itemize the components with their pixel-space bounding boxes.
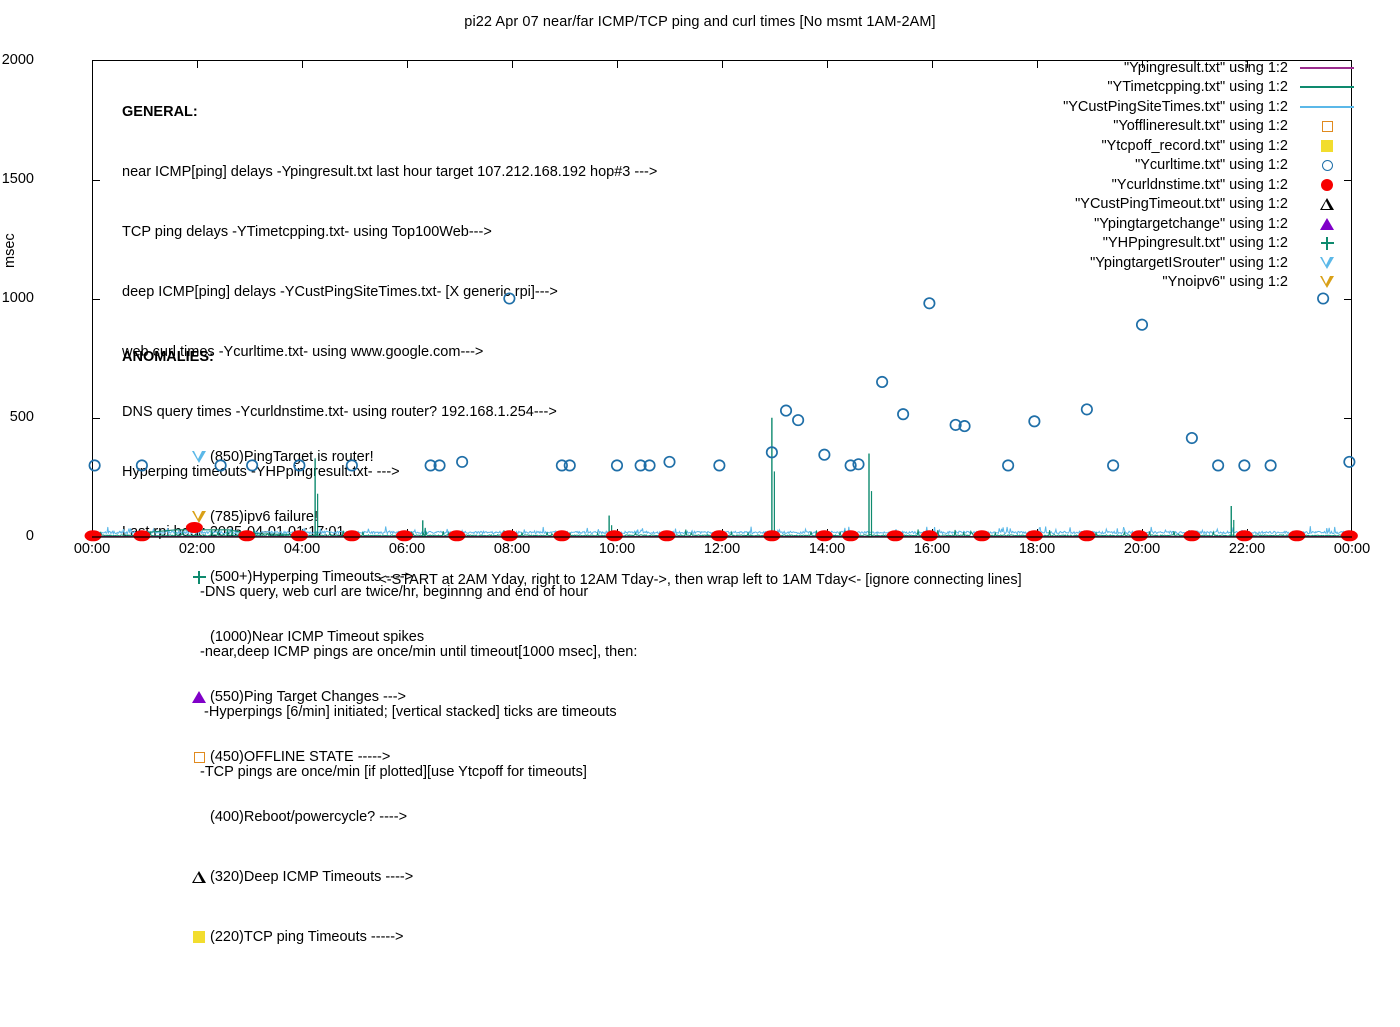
general-line-0: near ICMP[ping] delays -Ypingresult.txt … [122,162,657,182]
legend-entry: "Ypingresult.txt" using 1:2 [1010,58,1358,78]
anomaly-label: (400)Reboot/powercycle? ----> [210,807,407,827]
x-tick-0: 00:00 [74,541,110,557]
x-tick-8: 16:00 [914,541,950,557]
y-tickmark [92,418,100,419]
legend-label: "YTimetcpping.txt" using 1:2 [1107,79,1296,95]
anomaly-item: (220)TCP ping Timeouts -----> [188,927,424,947]
y-tickmark [1344,299,1352,300]
y-tickmark [92,180,100,181]
y-axis-label: msec [2,233,18,268]
y-tick-1000: 1000 [0,290,34,306]
chart-caption: <-START at 2AM Yday, right to 12AM Tday-… [0,572,1400,588]
legend-entry: "Ycurltime.txt" using 1:2 [1010,156,1358,176]
legend-label: "Yofflineresult.txt" using 1:2 [1113,118,1296,134]
x-tick-10: 20:00 [1124,541,1160,557]
legend-label: "Ypingtargetchange" using 1:2 [1094,216,1296,232]
square-fill-yellow-icon [1296,140,1358,152]
page-title: pi22 Apr 07 near/far ICMP/TCP ping and c… [0,14,1400,30]
legend-label: "YCustPingTimeout.txt" using 1:2 [1075,196,1296,212]
anomaly-item: (1000)Near ICMP Timeout spikes [188,627,424,647]
chart-legend: "Ypingresult.txt" using 1:2 "YTimetcppin… [1010,58,1358,292]
x-tick-9: 18:00 [1019,541,1055,557]
y-tickmark [92,299,100,300]
legend-entry: "YCustPingTimeout.txt" using 1:2 [1010,195,1358,215]
y-tickmark [1344,418,1352,419]
triangle-down-cyan-icon [188,451,210,463]
square-fill-yellow-icon [188,931,210,943]
y-tick-2000: 2000 [0,52,34,68]
plus-icon [1296,237,1358,250]
anomalies-annotation: ANOMALIES: (850)PingTarget is router! (7… [122,307,424,1027]
square-open-orange-icon [1296,121,1358,132]
triangle-up-open-icon [188,871,210,883]
x-tick-6: 12:00 [704,541,740,557]
legend-entry: "YTimetcpping.txt" using 1:2 [1010,78,1358,98]
x-tickmark [827,529,828,537]
legend-line-icon [1296,106,1358,108]
general-line-2: deep ICMP[ping] delays -YCustPingSiteTim… [122,282,657,302]
x-tickmark [932,60,933,68]
triangle-up-open-icon [1296,198,1358,210]
triangle-down-orange-icon [1296,276,1358,288]
legend-label: "YpingtargetISrouter" using 1:2 [1090,255,1296,271]
anomalies-heading: ANOMALIES: [122,347,424,367]
y-tick-1500: 1500 [0,171,34,187]
legend-label: "YCustPingSiteTimes.txt" using 1:2 [1063,99,1296,115]
anomaly-label: (320)Deep ICMP Timeouts ----> [210,867,413,887]
chart-page: pi22 Apr 07 near/far ICMP/TCP ping and c… [0,0,1400,600]
x-tickmark [722,60,723,68]
legend-entry: "YCustPingSiteTimes.txt" using 1:2 [1010,97,1358,117]
x-tickmark [1247,529,1248,537]
legend-entry: "Ytcpoff_record.txt" using 1:2 [1010,136,1358,156]
triangle-up-purple-icon [1296,218,1358,230]
legend-line-icon [1296,67,1358,69]
legend-entry: "Ynoipv6" using 1:2 [1010,273,1358,293]
anomaly-item: (785)ipv6 failure! [188,507,424,527]
anomaly-item: (550)Ping Target Changes ---> [188,687,424,707]
anomaly-label: (1000)Near ICMP Timeout spikes [210,627,424,647]
legend-entry: "YpingtargetISrouter" using 1:2 [1010,253,1358,273]
legend-label: "Ynoipv6" using 1:2 [1162,274,1296,290]
legend-entry: "YHPpingresult.txt" using 1:2 [1010,234,1358,254]
x-tickmark [1142,529,1143,537]
anomaly-item: (320)Deep ICMP Timeouts ----> [188,867,424,887]
y-tick-0: 0 [0,528,34,544]
anomaly-label: (220)TCP ping Timeouts -----> [210,927,404,947]
anomaly-item: (400)Reboot/powercycle? ----> [188,807,424,827]
x-tick-12: 00:00 [1334,541,1370,557]
x-tickmark [827,60,828,68]
legend-label: "Ycurldnstime.txt" using 1:2 [1112,177,1296,193]
legend-entry: "Ypingtargetchange" using 1:2 [1010,214,1358,234]
anomaly-label: (785)ipv6 failure! [210,507,318,527]
triangle-down-orange-icon [188,511,210,523]
legend-label: "Ytcpoff_record.txt" using 1:2 [1101,138,1296,154]
x-tick-11: 22:00 [1229,541,1265,557]
x-tickmark [1037,529,1038,537]
triangle-down-cyan-icon [1296,257,1358,269]
x-tick-7: 14:00 [809,541,845,557]
x-tickmark [932,529,933,537]
x-tickmark [722,529,723,537]
circle-fill-red-icon [1296,179,1358,191]
anomaly-item: (450)OFFLINE STATE -----> [188,747,424,767]
legend-label: "Ypingresult.txt" using 1:2 [1124,60,1296,76]
legend-line-icon [1296,86,1358,88]
legend-label: "Ycurltime.txt" using 1:2 [1135,157,1296,173]
legend-entry: "Ycurldnstime.txt" using 1:2 [1010,175,1358,195]
square-open-orange-icon [188,752,210,763]
y-tick-500: 500 [0,409,34,425]
general-line-1: TCP ping delays -YTimetcpping.txt- using… [122,222,657,242]
general-heading: GENERAL: [122,102,657,122]
circle-open-blue-icon [1296,160,1358,171]
anomaly-label: (450)OFFLINE STATE -----> [210,747,390,767]
legend-entry: "Yofflineresult.txt" using 1:2 [1010,117,1358,137]
anomaly-label: (850)PingTarget is router! [210,447,374,467]
legend-label: "YHPpingresult.txt" using 1:2 [1103,235,1296,251]
triangle-up-purple-icon [188,691,210,703]
anomaly-label: (550)Ping Target Changes ---> [210,687,406,707]
anomaly-item: (850)PingTarget is router! [188,447,424,467]
